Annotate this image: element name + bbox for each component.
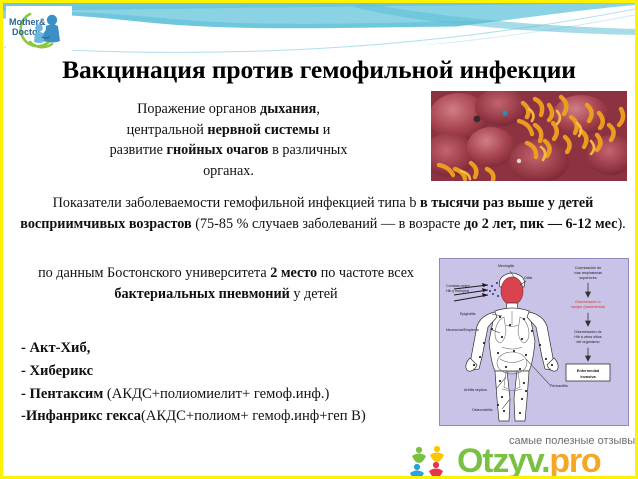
incidence-seg3: (75-85 % случаев заболеваний — в возраст… [192,216,464,232]
list-item: - Акт-Хиб, [21,337,441,360]
diagram-label-artritis: Artritis séptica [464,388,487,392]
diagram-label-contacto2: Hib y huésped [446,289,469,293]
wordmark-pro: pro [549,442,600,479]
resp-line3-pre: развитие [110,142,167,158]
incidence-seg1: Показатели заболеваемости гемофильной ин… [53,195,420,211]
hib-bacteria-micrograph [431,91,627,181]
diagram-label-neumonia: Neumonía/Empiema [446,328,479,332]
paragraph-boston-university: по данным Бостонского университета 2 мес… [21,263,431,305]
svg-text:Enfermedad: Enfermedad [577,368,600,373]
boston-seg2: 2 место [270,265,317,281]
svg-text:Hib a otros sitios: Hib a otros sitios [574,335,601,339]
resp-line4: органах. [203,163,254,179]
otzyv-pro-wordmark: Otzyv.pro [457,444,601,478]
resp-line3-post: в различных [269,142,348,158]
wordmark-otzyv: Otzyv [457,442,541,479]
vaccine-detail-2: (АКДС+полиомиелит+ гемоф.инф.) [103,386,329,402]
otzyv-pro-watermark: самые полезные отзывы Otzyv.pro [405,435,638,479]
svg-text:sangre (bacteriemia): sangre (bacteriemia) [571,305,605,309]
diagram-label-otitis: Otitis [524,276,532,280]
boston-seg4: бактериальных пневмоний [114,286,289,302]
boston-seg5: у детей [290,286,338,302]
diagram-label-contacto: Contacto entre [446,284,470,288]
svg-text:invasiva: invasiva [580,374,596,379]
vaccine-dash-1: - [21,363,30,379]
list-item: - Хиберикс [21,360,441,383]
boston-seg1: по данным Бостонского университета [38,265,270,281]
resp-line1-post: , [316,101,320,117]
vaccine-name-2: Пентаксим [30,386,104,402]
resp-line2-bold: нервной системы [207,122,319,138]
vaccine-name-1: Хиберикс [30,363,94,379]
vaccine-detail-3: (АКДС+полиом+ гемоф.инф+геп В) [141,408,366,424]
mother-and-doctor-logo: Mother& Doctor [6,6,72,53]
vaccine-dash-0: - [21,340,30,356]
otzyv-people-icon [407,444,457,479]
vaccine-name-3: Инфанрикс гекса [26,408,141,424]
vaccine-dash-2: - [21,386,30,402]
resp-line2-pre: центральной [127,122,208,138]
list-item: -Инфанрикс гекса(АКДС+полиом+ гемоф.инф+… [21,405,441,428]
svg-text:superiores: superiores [579,276,596,280]
list-item: - Пентаксим (АКДС+полиомиелит+ гемоф.инф… [21,383,441,406]
svg-text:Diseminación de: Diseminación de [574,330,601,334]
paragraph-incidence-rates: Показатели заболеваемости гемофильной ин… [17,193,629,235]
page-title: Вакцинация против гемофильной инфекции [3,57,635,84]
svg-text:del organismo: del organismo [576,340,599,344]
boston-seg3: по частоте всех [317,265,414,281]
svg-text:Colonización de: Colonización de [575,266,601,270]
decorative-wave-banner [3,3,635,61]
svg-text:Diseminación a: Diseminación a [575,300,601,304]
vaccine-name-0: Акт-Хиб, [30,340,91,356]
diagram-label-epiglotitis: Epiglotitis [460,312,476,316]
paragraph-respiratory-organs: Поражение органов дыхания, центральной н… [41,99,416,181]
resp-line3-bold: гнойных очагов [167,142,269,158]
incidence-seg5: ). [617,216,625,232]
diagram-label-meningitis: Meningitis [498,264,514,268]
diagram-label-pericarditis: Pericarditis [550,384,568,388]
presentation-slide: Mother& Doctor Вакцинация против гемофил… [0,0,638,479]
diagram-label-osteomielitis: Osteomielitis [472,408,493,412]
resp-line2-post: и [319,122,330,138]
svg-text:vías respiratorias: vías respiratorias [574,271,602,275]
hib-invasive-disease-diagram: Contacto entre Hib y huésped Meningitis … [439,258,629,426]
resp-line1-pre: Поражение органов [137,101,260,117]
vaccine-list: - Акт-Хиб, - Хиберикс - Пентаксим (АКДС+… [21,337,441,428]
resp-line1-bold: дыхания [260,101,316,117]
incidence-seg4: до 2 лет, пик — 6-12 мес [464,216,618,232]
